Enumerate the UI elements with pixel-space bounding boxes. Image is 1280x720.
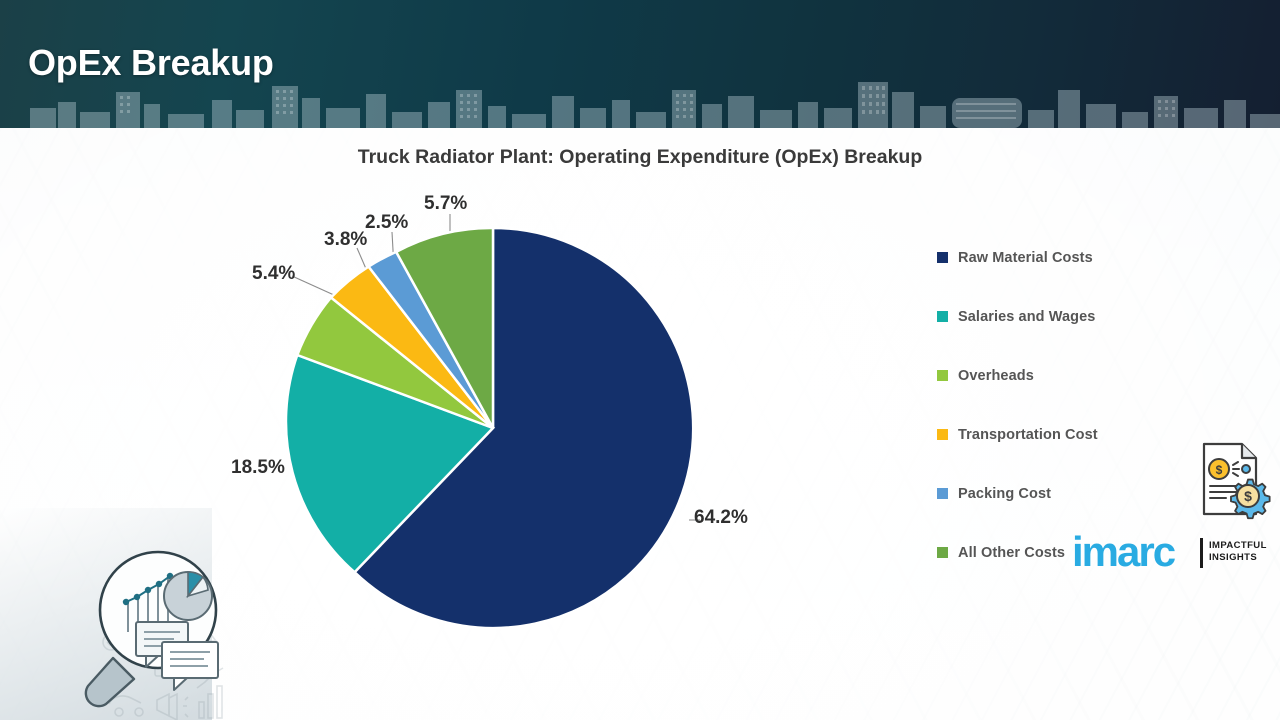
- pie-svg: [283, 218, 703, 638]
- legend-item-overheads[interactable]: Overheads: [937, 346, 1237, 405]
- pie-slices: [286, 228, 693, 628]
- logo-divider: [1200, 538, 1203, 568]
- logo-tagline: IMPACTFUL INSIGHTS: [1209, 540, 1267, 564]
- legend-swatch-icon: [937, 370, 948, 381]
- slice-value-label-all-other-costs: 5.7%: [424, 193, 467, 215]
- slice-value-label-salaries-and-wages: 18.5%: [231, 457, 285, 479]
- magnifying-glass-analytics-icon: [58, 540, 228, 720]
- legend-swatch-icon: [937, 429, 948, 440]
- slide-body: Truck Radiator Plant: Operating Expendit…: [0, 128, 1280, 720]
- slice-value-label-overheads: 5.4%: [252, 263, 295, 285]
- logo-wordmark: imarc: [1072, 530, 1174, 574]
- svg-text:$: $: [1216, 463, 1223, 477]
- pie-chart: [283, 218, 703, 638]
- legend-label: All Other Costs: [958, 545, 1065, 561]
- legend-item-raw-material-costs[interactable]: Raw Material Costs: [937, 228, 1237, 287]
- logo-tagline-line1: IMPACTFUL: [1209, 540, 1267, 552]
- chart-title: Truck Radiator Plant: Operating Expendit…: [0, 146, 1280, 169]
- legend-label: Overheads: [958, 368, 1034, 384]
- legend-swatch-icon: [937, 547, 948, 558]
- legend-swatch-icon: [937, 252, 948, 263]
- legend-swatch-icon: [937, 488, 948, 499]
- header-banner: OpEx Breakup: [0, 0, 1280, 128]
- legend-label: Salaries and Wages: [958, 309, 1095, 325]
- legend-swatch-icon: [937, 311, 948, 322]
- page-title: OpEx Breakup: [28, 42, 274, 84]
- imarc-logo: imarc IMPACTFUL INSIGHTS: [1072, 532, 1268, 578]
- slice-value-label-transportation-cost: 3.8%: [324, 229, 367, 251]
- slice-value-label-packing-cost: 2.5%: [365, 212, 408, 234]
- legend-label: Transportation Cost: [958, 427, 1098, 443]
- slice-value-label-raw-material-costs: 64.2%: [694, 507, 748, 529]
- logo-tagline-line2: INSIGHTS: [1209, 552, 1267, 564]
- legend-item-salaries-and-wages[interactable]: Salaries and Wages: [937, 287, 1237, 346]
- legend-label: Raw Material Costs: [958, 250, 1093, 266]
- legend-label: Packing Cost: [958, 486, 1051, 502]
- svg-text:$: $: [1244, 488, 1252, 504]
- document-cost-gear-icon: $ $: [1192, 438, 1274, 520]
